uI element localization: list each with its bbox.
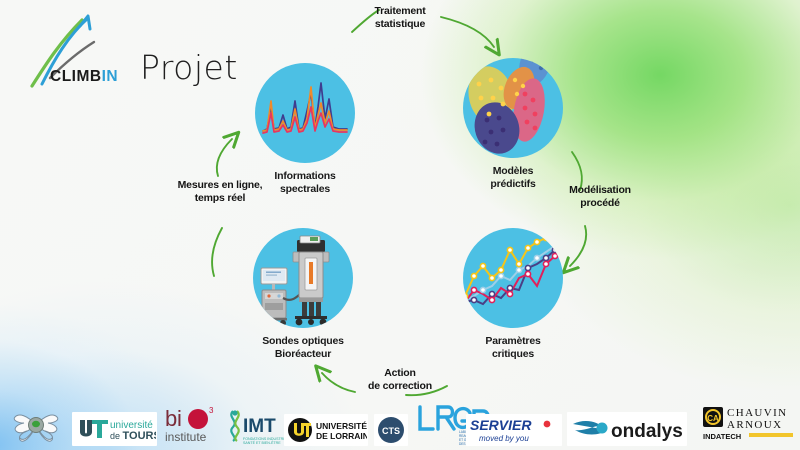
- arrow-label-line2: temps réel: [150, 192, 290, 205]
- spectra-plot-icon: [255, 63, 355, 163]
- chauvin-arnoux-logo: CA CHAUVIN ARNOUX INDATECH: [700, 402, 796, 446]
- svg-text:CA: CA: [707, 414, 719, 423]
- node-disc: [463, 228, 563, 328]
- node-label-line1: Modèles: [448, 165, 578, 178]
- node-label-line2: critiques: [448, 348, 578, 361]
- arrow-label-mesures-en-ligne: Mesures en ligne, temps réel: [150, 179, 290, 205]
- partner-logo-bar: université de TOURS b i 3 institute IMT …: [0, 404, 800, 450]
- logo-text-bio: b: [165, 406, 177, 431]
- universite-de-tours-logo: université de TOURS: [72, 412, 157, 446]
- node-disc: [463, 58, 563, 158]
- logo-text-line1: UNIVERSITÉ: [316, 421, 367, 431]
- node-disc: [255, 63, 355, 163]
- node-label: Paramètres critiques: [448, 335, 578, 361]
- climbin-wordmark: CLIMBIN: [50, 69, 118, 85]
- logo-text-imt: IMT: [243, 416, 276, 437]
- overlapping-ellipses-icon: [463, 58, 563, 158]
- page-title: Projet: [140, 48, 238, 87]
- logo-text-servier: SERVIER: [470, 417, 532, 433]
- arrow-label-traitement-statistique: Traitement statistique: [340, 5, 460, 31]
- arrow-label-line2: de correction: [340, 380, 460, 393]
- logo-text-line2: DE LORRAINE: [316, 431, 367, 441]
- multi-line-chart-icon: [463, 228, 563, 328]
- climbin-logo: CLIMBIN: [20, 12, 124, 90]
- bioreactor-photo-icon: [253, 228, 353, 328]
- logo-tagline: moved by you: [479, 434, 529, 443]
- logo-text-line2: ARNOUX: [727, 419, 782, 431]
- node-label: Sondes optiques Bioréacteur: [238, 335, 368, 361]
- bio3-institute-logo: b i 3 institute: [163, 404, 223, 446]
- logo-text-institute: institute: [165, 430, 207, 444]
- svg-text:SANTÉ ET BIEN-ÊTRE: SANTÉ ET BIEN-ÊTRE: [243, 440, 281, 445]
- logo-tagline: INDATECH: [703, 432, 741, 441]
- pinwheel-logo: [8, 404, 64, 446]
- arrow-label-line2: procédé: [540, 197, 660, 210]
- arrow-label-modelisation-procede: Modélisation procédé: [540, 184, 660, 210]
- logo-sup: 3: [209, 406, 214, 415]
- arrow-left-out: [217, 139, 232, 176]
- brand-name-dark: CLIMB: [50, 68, 102, 85]
- arrow-label-line1: Traitement: [340, 5, 460, 18]
- logo-text-ondalys: ondalys: [611, 421, 683, 442]
- svg-text:i: i: [177, 406, 182, 431]
- node-label-line1: Paramètres: [448, 335, 578, 348]
- arrow-label-line1: Action: [340, 367, 460, 380]
- cycle-node-parametres-critiques[interactable]: Paramètres critiques: [463, 228, 578, 361]
- arrow-label-line1: Modélisation: [540, 184, 660, 197]
- cycle-node-sondes-optiques-bioreacteur[interactable]: Sondes optiques Bioréacteur: [253, 228, 368, 361]
- cycle-node-modeles-predictifs[interactable]: Modèles prédictifs: [463, 58, 578, 191]
- cycle-node-informations-spectrales[interactable]: Informations spectrales: [255, 63, 370, 196]
- logo-text-line2: de TOURS: [110, 430, 156, 442]
- ondalys-logo: ondalys: [567, 412, 687, 446]
- arrow-label-line2: statistique: [340, 18, 460, 31]
- node-disc: [253, 228, 353, 328]
- cts-logo: CTS: [374, 414, 408, 446]
- arrow-label-line1: Mesures en ligne,: [150, 179, 290, 192]
- slide-canvas: CLIMBIN Projet: [0, 0, 800, 450]
- logo-text-line1: CHAUVIN: [727, 407, 788, 419]
- servier-logo: SERVIER moved by you: [466, 414, 562, 446]
- node-label-line2: Bioréacteur: [238, 348, 368, 361]
- arrow-label-action-de-correction: Action de correction: [340, 367, 460, 393]
- node-label-line1: Sondes optiques: [238, 335, 368, 348]
- brand-name-accent: IN: [102, 68, 119, 85]
- arrow-left-in: [212, 228, 222, 276]
- logo-text-cts: CTS: [382, 426, 400, 436]
- universite-de-lorraine-logo: UNIVERSITÉ DE LORRAINE: [284, 414, 368, 446]
